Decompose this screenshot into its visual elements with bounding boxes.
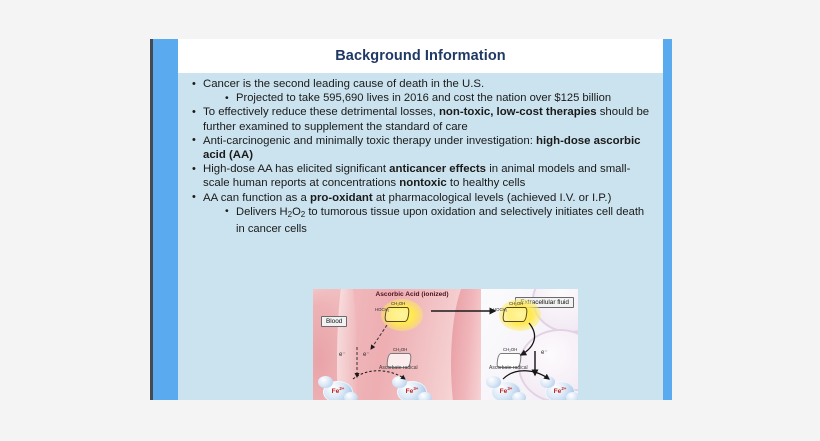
list-item: AA can function as a pro-oxidant at phar… (192, 191, 653, 237)
bullet-text: Anti-carcinogenic and minimally toxic th… (203, 135, 640, 161)
figure-title: Ascorbic Acid (ionized) (357, 291, 467, 298)
slide-frame: Background Information Cancer is the sec… (150, 39, 672, 400)
list-item: Projected to take 595,690 lives in 2016 … (225, 91, 653, 105)
iron-ion-label: Fe3+ (491, 386, 521, 395)
sub-bullet-text: Projected to take 595,690 lives in 2016 … (236, 92, 611, 104)
molecule-label-hoch2: HOCH₂ (493, 307, 507, 312)
list-item: To effectively reduce these detrimental … (192, 105, 653, 133)
list-item: Anti-carcinogenic and minimally toxic th… (192, 134, 653, 162)
electron-label: e⁻ (339, 351, 346, 358)
bullet-text: High-dose AA has elicited significant an… (203, 163, 630, 189)
sub-bullet-list: Delivers H2O2 to tumorous tissue upon ox… (203, 205, 653, 236)
screenshot-root: Background Information Cancer is the sec… (0, 0, 820, 441)
electron-label: e⁻ (363, 351, 370, 358)
bullet-text: AA can function as a pro-oxidant at phar… (203, 192, 611, 204)
molecule-label-ch2oh: CH₂OH (509, 301, 523, 306)
slide-content-area: Background Information Cancer is the sec… (178, 39, 663, 400)
bullet-list: Cancer is the second leading cause of de… (178, 73, 663, 236)
molecule-label-ch2oh: CH₂OH (393, 347, 407, 352)
electron-label: e⁻ (541, 349, 548, 356)
iron-ion-label: Fe2+ (545, 386, 575, 395)
bullet-text: To effectively reduce these detrimental … (203, 106, 649, 132)
list-item: Delivers H2O2 to tumorous tissue upon ox… (225, 205, 653, 236)
list-item: Cancer is the second leading cause of de… (192, 77, 653, 105)
molecule-label-ch2oh: CH₂OH (391, 301, 405, 306)
slide-body: Cancer is the second leading cause of de… (178, 73, 663, 400)
iron-ion-label: Fe3+ (397, 386, 427, 395)
ascorbate-radical-label-right: Ascorbate radical (489, 365, 528, 371)
molecule-label-ch2oh: CH₂OH (503, 347, 517, 352)
page-title: Background Information (178, 48, 663, 64)
sub-bullet-text: Delivers H2O2 to tumorous tissue upon ox… (236, 206, 644, 235)
molecule-label-hoch2: HOCH₂ (375, 307, 389, 312)
slide-title-band: Background Information (178, 39, 663, 73)
iron-ion-label: Fe2+ (323, 386, 353, 395)
list-item: High-dose AA has elicited significant an… (192, 162, 653, 190)
bullet-text: Cancer is the second leading cause of de… (203, 78, 484, 90)
sub-bullet-list: Projected to take 595,690 lives in 2016 … (203, 91, 653, 105)
blood-label: Blood (321, 316, 347, 327)
ascorbate-redox-diagram: Ascorbic Acid (ionized) Blood Extracellu… (313, 289, 578, 400)
ascorbate-radical-label-left: Ascorbate radical (379, 365, 418, 371)
